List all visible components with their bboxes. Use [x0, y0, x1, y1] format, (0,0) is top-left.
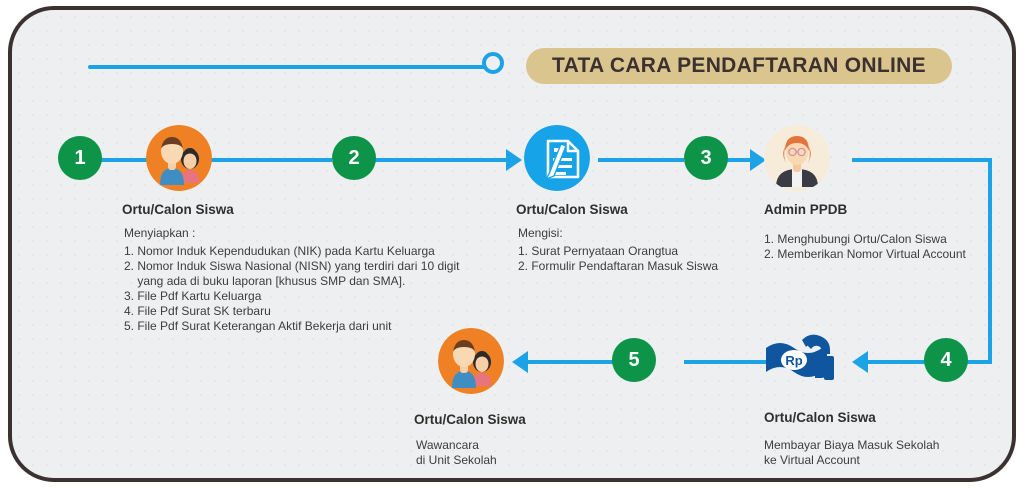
money-hand-icon: Rp — [762, 326, 842, 396]
step-3-title: Admin PPDB — [764, 202, 847, 217]
step-1-item-4: 4. File Pdf Surat SK terbaru — [124, 304, 271, 320]
step-number-2-label: 2 — [348, 147, 359, 170]
connector-5-to-avatar — [528, 360, 620, 364]
step-number-4-label: 4 — [940, 349, 951, 372]
admin-avatar-icon — [764, 125, 830, 191]
arrow-into-step5-icon — [512, 351, 528, 373]
header-rule — [88, 65, 488, 69]
step-number-4[interactable]: 4 — [924, 338, 968, 382]
page-title: TATA CARA PENDAFTARAN ONLINE — [552, 54, 926, 78]
step-4-line-2: ke Virtual Account — [764, 453, 860, 469]
family-avatar-icon-2 — [438, 328, 504, 394]
step-number-1[interactable]: 1 — [58, 136, 102, 180]
step-5-title: Ortu/Calon Siswa — [414, 412, 526, 427]
step-2-title: Ortu/Calon Siswa — [516, 202, 628, 217]
step-4-line-1: Membayar Biaya Masuk Sekolah — [764, 438, 939, 454]
document-pen-icon — [524, 125, 590, 191]
step-number-1-label: 1 — [74, 147, 85, 170]
connector-doc-to-3 — [598, 158, 684, 162]
step-number-3[interactable]: 3 — [684, 136, 728, 180]
infographic-board: TATA CARA PENDAFTARAN ONLINE 1 2 3 4 — [8, 6, 1016, 482]
title-banner: TATA CARA PENDAFTARAN ONLINE — [526, 48, 952, 84]
step-number-5[interactable]: 5 — [612, 338, 656, 382]
step-4-title: Ortu/Calon Siswa — [764, 410, 876, 425]
step-number-2[interactable]: 2 — [332, 136, 376, 180]
step-1-intro: Menyiapkan : — [124, 226, 195, 242]
step-2-item-1: 1. Surat Pernyataan Orangtua — [518, 244, 678, 260]
step-1-item-2-cont: yang ada di buku laporan [khusus SMP dan… — [124, 274, 405, 290]
family-avatar-icon — [146, 125, 212, 191]
arrow-into-money-icon — [852, 351, 868, 373]
step-3-item-2: 2. Memberikan Nomor Virtual Account — [764, 247, 966, 263]
connector-right-vertical — [988, 158, 992, 364]
step-1-item-1: 1. Nomor Induk Kependudukan (NIK) pada K… — [124, 244, 435, 260]
step-5-line-1: Wawancara — [416, 438, 479, 454]
step-1-item-2: 2. Nomor Induk Siswa Nasional (NISN) yan… — [124, 259, 459, 275]
infographic-canvas: TATA CARA PENDAFTARAN ONLINE 1 2 3 4 — [0, 0, 1024, 488]
connector-1-to-2 — [96, 158, 332, 162]
step-2-item-2: 2. Formulir Pendaftaran Masuk Siswa — [518, 259, 718, 275]
step-number-5-label: 5 — [628, 349, 639, 372]
arrow-into-step2-icon — [506, 149, 522, 171]
step-1-item-5: 5. File Pdf Surat Keterangan Aktif Beker… — [124, 319, 391, 335]
header-ring-icon — [482, 52, 504, 74]
connector-2-to-3 — [370, 158, 510, 162]
svg-text:Rp: Rp — [785, 353, 802, 368]
step-3-item-1: 1. Menghubungi Ortu/Calon Siswa — [764, 232, 947, 248]
step-5-line-2: di Unit Sekolah — [416, 453, 497, 469]
step-number-3-label: 3 — [700, 147, 711, 170]
step-2-intro: Mengisi: — [518, 226, 563, 242]
step-1-item-3: 3. File Pdf Kartu Keluarga — [124, 289, 261, 305]
connector-admin-right — [852, 158, 992, 162]
step-1-title: Ortu/Calon Siswa — [122, 202, 234, 217]
